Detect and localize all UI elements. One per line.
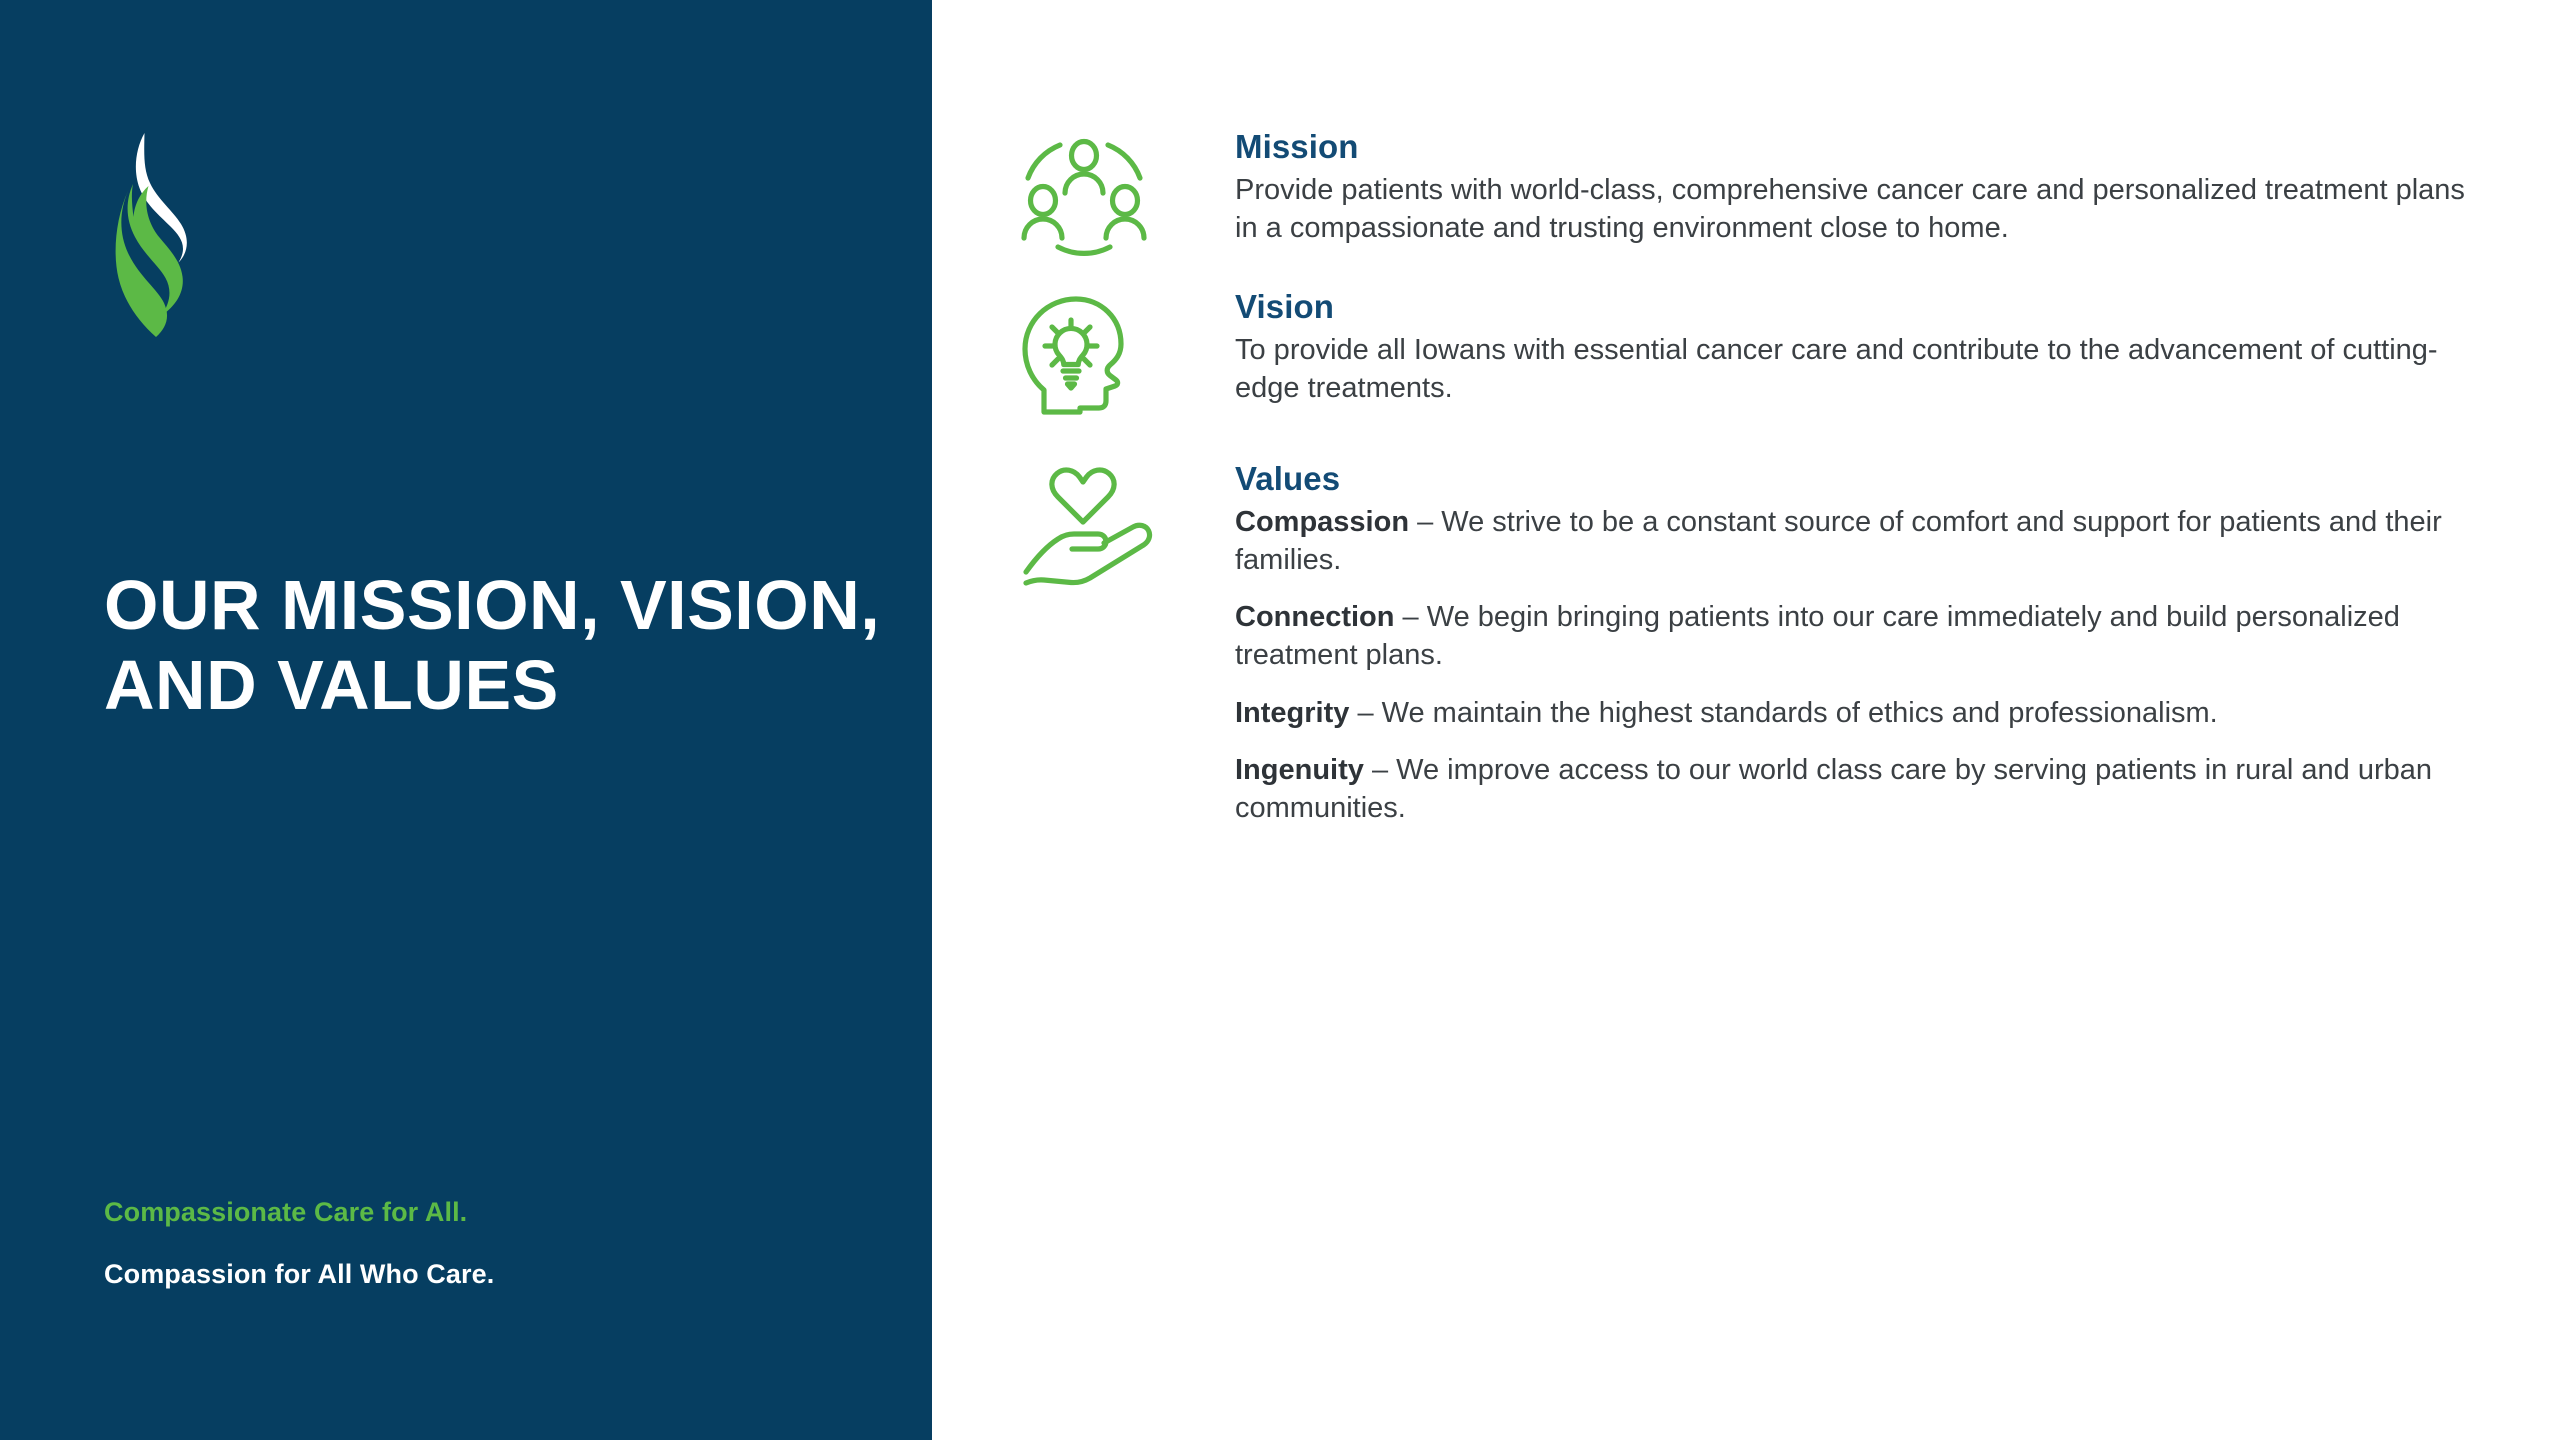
sections-list: Mission Provide patients with world-clas… — [1020, 128, 2500, 828]
tagline-secondary: Compassion for All Who Care. — [104, 1258, 864, 1290]
mission-icon-container — [1020, 128, 1235, 262]
section-values: Values Compassion – We strive to be a co… — [1020, 460, 2500, 828]
mission-text: Mission Provide patients with world-clas… — [1235, 128, 2500, 247]
flame-logo — [104, 125, 234, 340]
tagline-primary: Compassionate Care for All. — [104, 1196, 864, 1228]
value-term: Compassion — [1235, 506, 1409, 538]
vision-text: Vision To provide all Iowans with essent… — [1235, 288, 2500, 407]
value-desc: – We strive to be a constant source of c… — [1235, 506, 2442, 576]
hand-heart-icon — [1020, 466, 1160, 586]
section-title-mission: Mission — [1235, 128, 2500, 166]
section-vision: Vision To provide all Iowans with essent… — [1020, 288, 2500, 422]
slide-root: OUR MISSION, VISION, AND VALUES Compassi… — [0, 0, 2560, 1440]
value-term: Ingenuity — [1235, 754, 1364, 786]
value-desc: – We improve access to our world class c… — [1235, 754, 2432, 824]
value-item: Integrity – We maintain the highest stan… — [1235, 695, 2465, 733]
right-content-panel: Mission Provide patients with world-clas… — [932, 0, 2560, 1440]
value-item: Compassion – We strive to be a constant … — [1235, 504, 2465, 579]
taglines: Compassionate Care for All. Compassion f… — [104, 1196, 864, 1291]
value-desc: – We begin bringing patients into our ca… — [1235, 601, 2400, 671]
section-body-vision: To provide all Iowans with essential can… — [1235, 332, 2495, 407]
values-icon-container — [1020, 460, 1235, 586]
vision-icon-container — [1020, 288, 1235, 422]
people-group-icon — [1020, 134, 1148, 262]
values-text: Values Compassion – We strive to be a co… — [1235, 460, 2500, 828]
section-body-mission: Provide patients with world-class, compr… — [1235, 172, 2495, 247]
head-lightbulb-icon — [1020, 294, 1140, 422]
section-title-values: Values — [1235, 460, 2500, 498]
value-desc: – We maintain the highest standards of e… — [1349, 697, 2217, 729]
value-term: Connection — [1235, 601, 1395, 633]
value-term: Integrity — [1235, 697, 1349, 729]
left-navy-panel: OUR MISSION, VISION, AND VALUES Compassi… — [0, 0, 932, 1440]
section-title-vision: Vision — [1235, 288, 2500, 326]
value-item: Ingenuity – We improve access to our wor… — [1235, 752, 2465, 827]
values-list: Compassion – We strive to be a constant … — [1235, 504, 2500, 828]
section-mission: Mission Provide patients with world-clas… — [1020, 128, 2500, 262]
page-title: OUR MISSION, VISION, AND VALUES — [104, 566, 894, 726]
value-item: Connection – We begin bringing patients … — [1235, 599, 2465, 674]
